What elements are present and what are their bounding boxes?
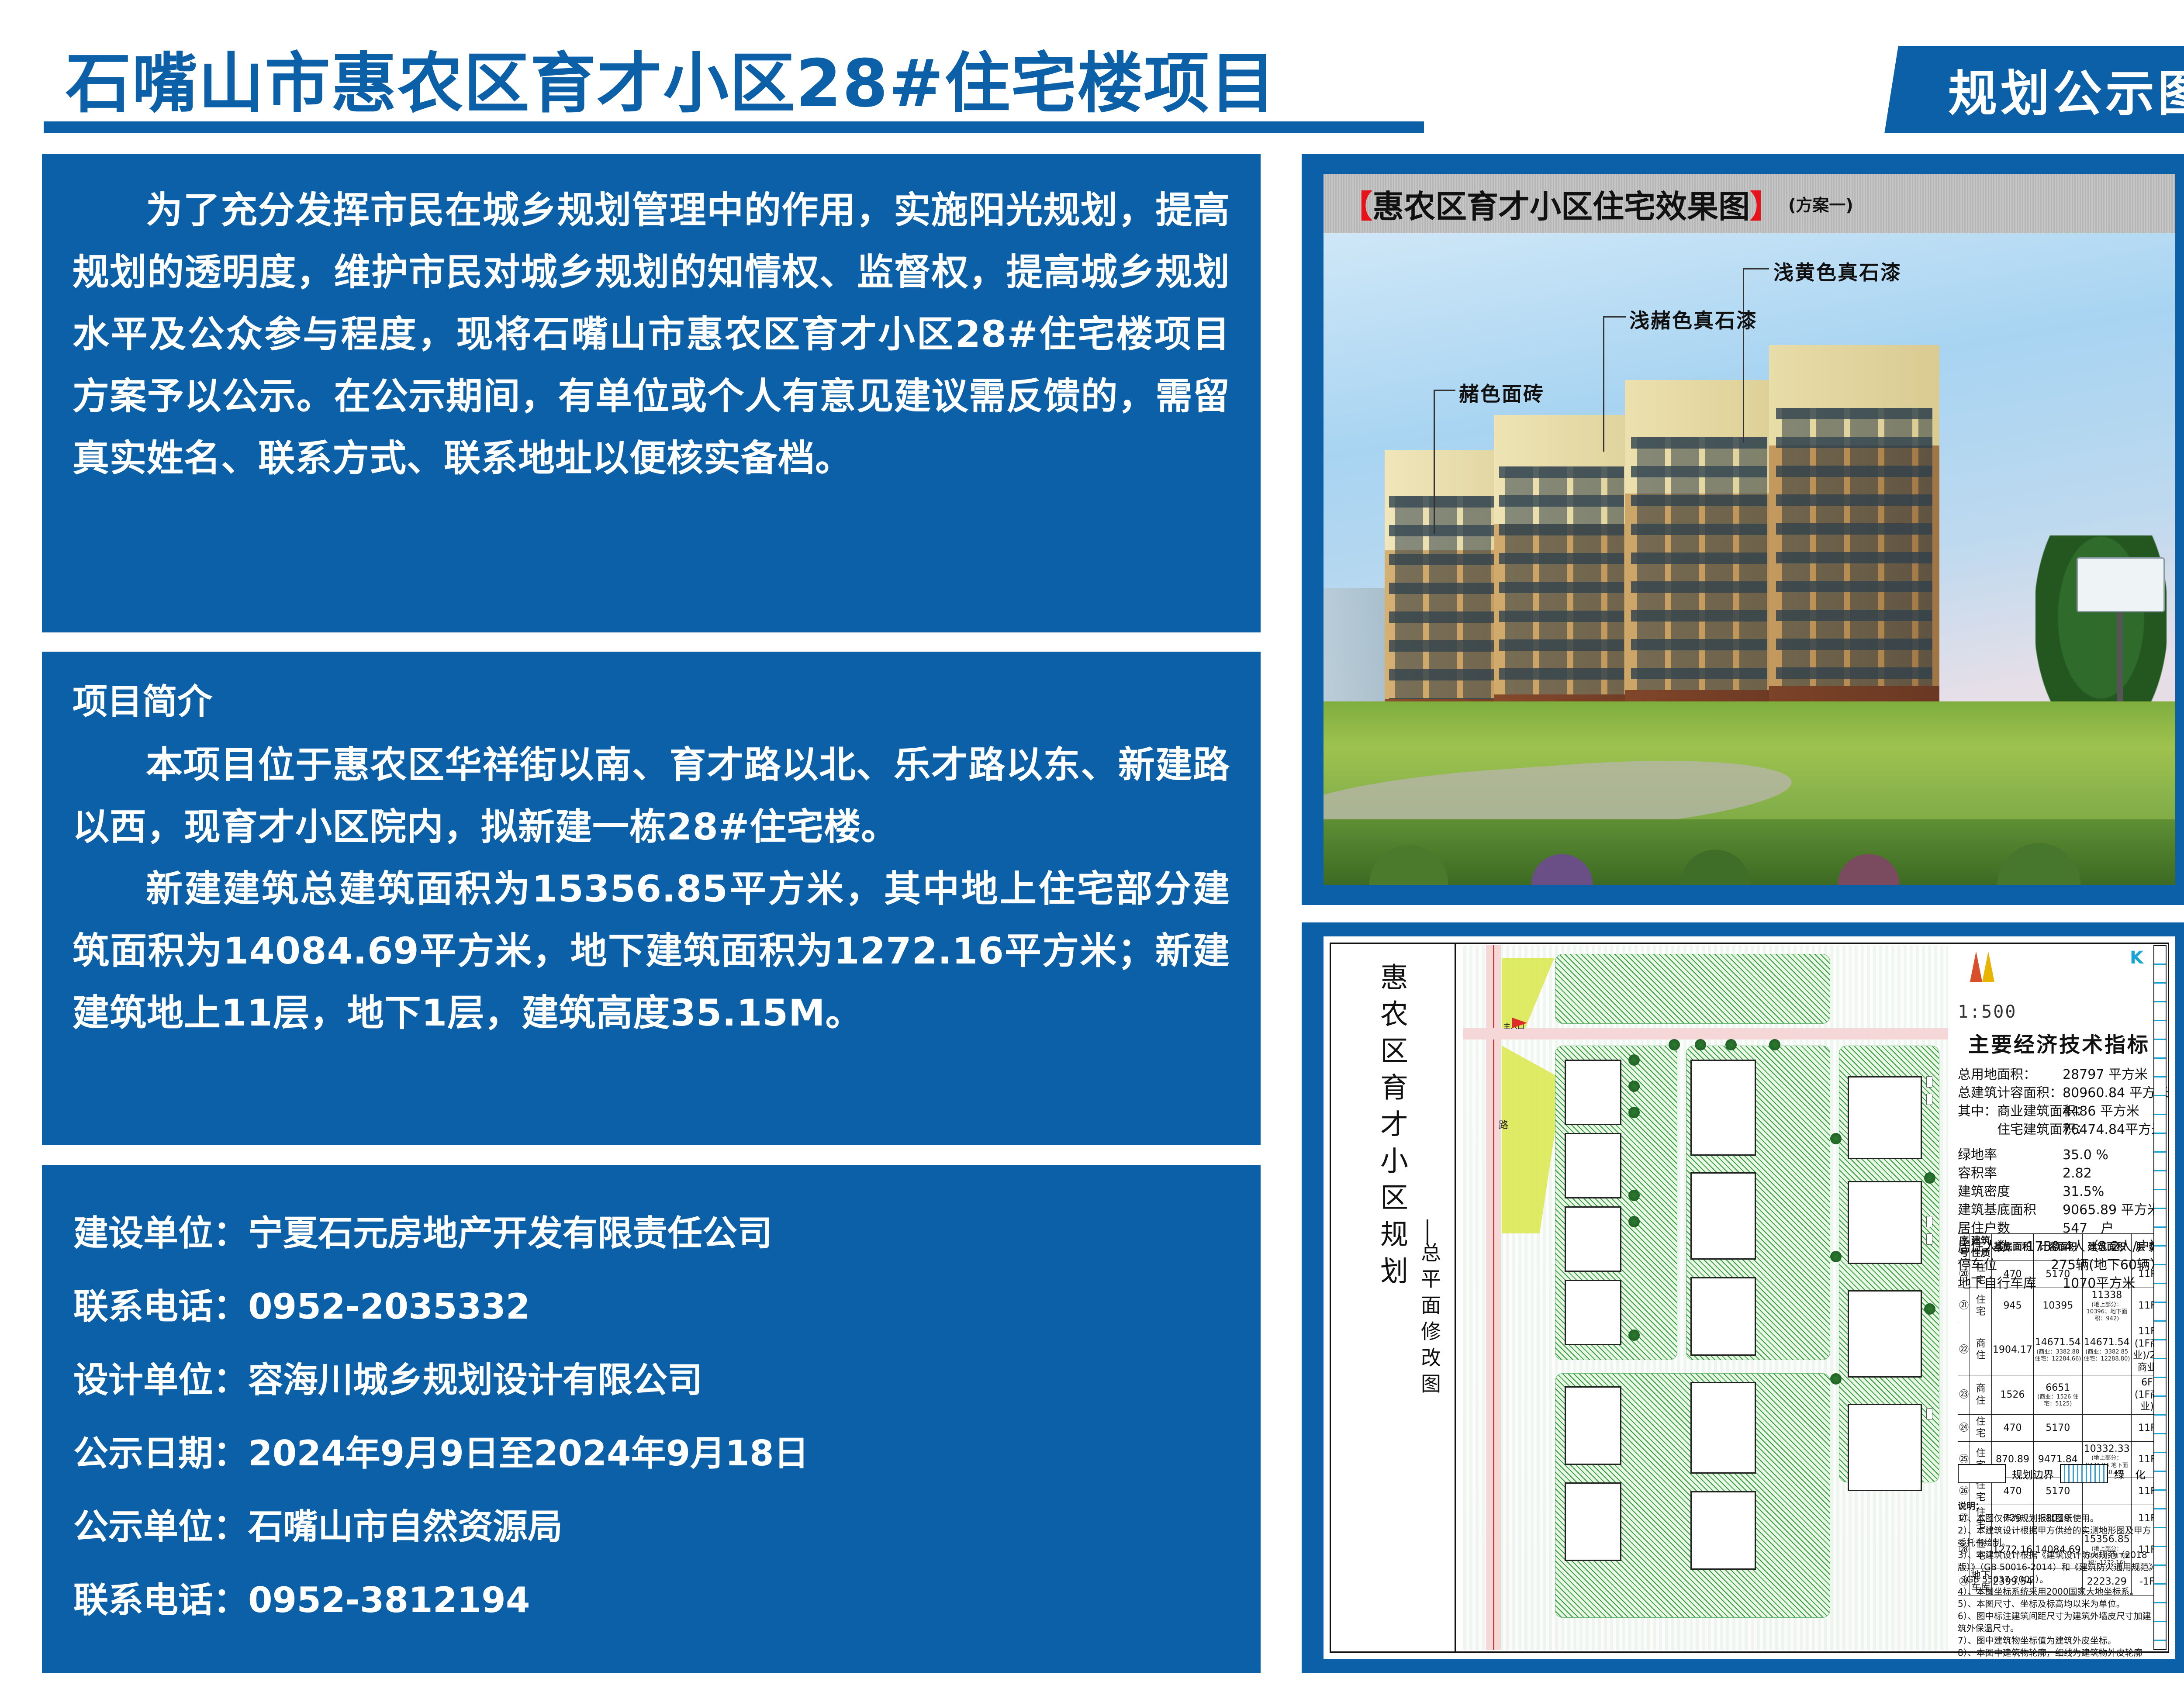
kpi-key: 住宅建筑面积： [1958, 1121, 2063, 1139]
parking-stall [1926, 1076, 1932, 1088]
tree-symbol [1769, 1039, 1780, 1050]
note-item: 4）、本图坐标系统采用2000国家大地坐标系。 [1958, 1585, 2159, 1598]
drawing-title-block [2153, 945, 2167, 1650]
leader-tick [1434, 390, 1455, 391]
tree-symbol [1695, 1039, 1706, 1050]
title-underline [44, 121, 1424, 133]
cell-no: ⑳ [1958, 1261, 1970, 1288]
map-legend: 规划边界 绿 化 [1958, 1464, 2163, 1483]
kpi-row: 其中：商业建筑面积：4486 平方米 [1958, 1102, 2163, 1121]
window-grid [1631, 437, 1768, 717]
kpi-key: 绿地率 [1958, 1146, 2063, 1164]
building-footprint [1565, 1386, 1621, 1465]
green-area [1555, 954, 1830, 1024]
contact-row-date: 公示日期：2024年9月9日至2024年9月18日 [73, 1417, 1230, 1490]
cell-far: 5170 [2034, 1261, 2083, 1288]
parking-stall [1926, 1408, 1932, 1419]
table-row: ㉒商 住1904.1714671.54(商业：3382.88 住宅：12284.… [1958, 1324, 2163, 1375]
north-arrow-right [1982, 951, 1994, 982]
background-building [1324, 588, 1389, 719]
contact-row-phone-2: 联系电话：0952-3812194 [73, 1564, 1230, 1637]
notice-text: 为了充分发挥市民在城乡规划管理中的作用，实施阳光规划，提高规划的透明度，维护市民… [73, 179, 1230, 489]
tree-symbol [1628, 1107, 1640, 1118]
cell-gfa [2082, 1414, 2131, 1441]
header-tag-label: 规划公示图 [1913, 55, 2184, 124]
note-item: 7）、图中建筑物坐标值为建筑外皮坐标。 [1958, 1634, 2159, 1647]
annotation-label: 赭色面砖 [1459, 382, 1545, 406]
kpi-value: 9065.89 平方米 [2063, 1201, 2163, 1219]
window-grid [1389, 496, 1493, 721]
building-footprint [1690, 1382, 1756, 1474]
cell-far-detail: (商业：1526 住宅：5125) [2035, 1394, 2081, 1408]
cell-gfa: 14671.54(商业：3382.85 住宅：12288.80) [2082, 1324, 2131, 1375]
shrub-row [1324, 819, 2175, 885]
building-footprint [1848, 1290, 1922, 1378]
building-footprint [1690, 1491, 1756, 1570]
cell-no: ㉔ [1958, 1414, 1970, 1441]
sunlight-zone [1502, 958, 1554, 1028]
drawing-divider [1455, 943, 1456, 1653]
kpi-key: 总建筑计容面积： [1958, 1084, 2063, 1102]
planning-publicity-poster: 石嘴山市惠农区育才小区28#住宅楼项目 规划公示图 为了充分发挥市民在城乡规划管… [0, 0, 2184, 1706]
col-base: 基底面积 [1992, 1234, 2034, 1261]
tree-symbol [1628, 1054, 1640, 1066]
cell-gfa: 11338(地上部分：10396；地下面积：942) [2082, 1288, 2131, 1324]
map-label-road: 路 [1496, 1120, 1510, 1129]
road-north [1463, 1028, 1948, 1039]
kpi-row: 绿地率35.0 % [1958, 1146, 2163, 1164]
table-row: ㉓商 住15266651(商业：1526 住宅：5125)6F (1F商业) [1958, 1375, 2163, 1415]
site-plan-panel: 惠农区育才小区规划 总平面修改图 [1302, 922, 2184, 1673]
building-footprint [1565, 1482, 1621, 1561]
building-footprint [1690, 1172, 1756, 1260]
contact-row-designer: 设计单位：容海川城乡规划设计有限公司 [73, 1343, 1230, 1417]
building-footprint [1848, 1404, 1922, 1491]
building-footprint [1565, 1206, 1621, 1272]
legend-swatch-boundary [1958, 1464, 2006, 1483]
page-title: 石嘴山市惠农区育才小区28#住宅楼项目 [66, 31, 1276, 125]
drawing-title-rule [1427, 1219, 1428, 1245]
cell-far: 5170 [2034, 1414, 2083, 1441]
annotation-label: 浅赭色真石漆 [1629, 309, 1758, 332]
bracket-open-icon: 【 [1341, 188, 1372, 225]
building-footprint [1565, 1133, 1621, 1198]
contact-row-phone-1: 联系电话：0952-2035332 [73, 1270, 1230, 1343]
cell-no: ㉒ [1958, 1324, 1970, 1375]
cell-far-detail: (商业：3382.88 住宅：12284.66) [2035, 1349, 2081, 1363]
table-row: ㉑住 宅9451039511338(地上部分：10396；地下面积：942)11… [1958, 1288, 2163, 1324]
kpi-key: 建筑基底面积 [1958, 1201, 2063, 1219]
building-block-far-left [1385, 450, 1498, 738]
kpi-key: 其中：商业建筑面积： [1958, 1102, 2063, 1121]
tree-symbol [1628, 1216, 1640, 1227]
tree-symbol [1830, 1251, 1842, 1262]
building-block-main [1769, 345, 1939, 738]
cell-gfa-detail: (地上部分：10396；地下面积：942) [2084, 1302, 2130, 1323]
building-block-left [1494, 415, 1629, 738]
tree-symbol [1924, 1172, 1935, 1184]
site-map: 主入口 路 [1463, 945, 1948, 1650]
rendering-caption: 【惠农区育才小区住宅效果图】 [1341, 181, 1781, 227]
kpi-row: 住宅建筑面积：76474.84平方米 [1958, 1121, 2163, 1139]
kpi-row: 建筑密度31.5% [1958, 1183, 2163, 1201]
leader-line [1603, 316, 1604, 452]
building-footprint [1565, 1060, 1621, 1125]
cell-use: 商 住 [1970, 1375, 1992, 1415]
cell-far: 6651(商业：1526 住宅：5125) [2034, 1375, 2083, 1415]
contact-panel: 建设单位：宁夏石元房地产开发有限责任公司 联系电话：0952-2035332 设… [42, 1165, 1261, 1673]
site-plan-drawing: 惠农区育才小区规划 总平面修改图 [1324, 936, 2175, 1659]
rendering-caption-sub: (方案一) [1788, 192, 1853, 216]
kpi-key: 总用地面积： [1958, 1066, 2063, 1084]
annotation-light-ochre-stone-paint: 浅赭色真石漆 [1629, 305, 1758, 334]
brief-paragraph-1: 本项目位于惠农区华祥街以南、育才路以北、乐才路以东、新建路以西，现育才小区院内，… [73, 734, 1230, 858]
brief-heading: 项目简介 [73, 673, 1230, 724]
tree-symbol [1669, 1039, 1680, 1050]
tree-symbol [1830, 1373, 1842, 1385]
window-grid [1776, 408, 1933, 715]
road-centerline [1493, 945, 1494, 1650]
cell-use: 住 宅 [1970, 1288, 1992, 1324]
legend-label-green: 绿 化 [2114, 1466, 2146, 1482]
cell-gfa-detail: (商业：3382.85 住宅：12288.80) [2084, 1349, 2130, 1363]
kpi-row: 总建筑计容面积：80960.84 平方米 [1958, 1084, 2163, 1102]
tree-symbol [1628, 1190, 1640, 1201]
col-use: 建筑性质 [1970, 1234, 1992, 1261]
note-item: 2）、本建筑设计根据甲方供给的实测地形图及甲方委托书绘制。 [1958, 1524, 2159, 1549]
table-header-row: 序号 建筑性质 基底面积 计容面积 建筑面积 层 数 [1958, 1234, 2163, 1261]
brief-paragraph-2: 新建建筑总建筑面积为15356.85平方米，其中地上住宅部分建筑面积为14084… [73, 858, 1230, 1044]
annotation-label: 浅黄色真石漆 [1773, 261, 1902, 284]
parking-stall [1926, 1233, 1932, 1245]
cell-gfa [2082, 1375, 2131, 1415]
drawing-subtitle: 总平面修改图 [1415, 1242, 1444, 1522]
kpi-value: 4486 平方米 [2063, 1102, 2163, 1121]
cell-far: 10395 [2034, 1288, 2083, 1324]
cell-gfa [2082, 1261, 2131, 1288]
tree-symbol [1628, 1081, 1640, 1092]
kpi-row: 建筑基底面积9065.89 平方米 [1958, 1201, 2163, 1219]
table-row: ㉔住 宅470517011F [1958, 1414, 2163, 1441]
table-row: ⑳住 宅470517011F [1958, 1261, 2163, 1288]
tree-symbol [1924, 1303, 1935, 1315]
sunlight-zone [1502, 1046, 1563, 1233]
drawing-title: 惠农区育才小区规划 [1372, 963, 1412, 1544]
cell-no: ㉓ [1958, 1375, 1970, 1415]
rendering-image: 【惠农区育才小区住宅效果图】 (方案一) [1324, 174, 2175, 885]
kpi-row: 总用地面积：28797 平方米 [1958, 1066, 2163, 1084]
entrance-arrow-icon [1512, 1018, 1527, 1028]
parking-stall [1926, 1094, 1932, 1105]
annotation-light-yellow-stone-paint: 浅黄色真石漆 [1773, 257, 1902, 286]
contact-row-publisher: 公示单位：石嘴山市自然资源局 [73, 1490, 1230, 1564]
note-item: 6）、图中标注建筑间距尺寸为建筑外墙皮尺寸加建筑外保温尺寸。 [1958, 1610, 2159, 1634]
building-footprint [1565, 1280, 1621, 1345]
cell-use: 住 宅 [1970, 1414, 1992, 1441]
building-footprint [1690, 1060, 1756, 1156]
cell-base: 1526 [1992, 1375, 2034, 1415]
rendering-caption-bar: 【惠农区育才小区住宅效果图】 (方案一) [1324, 174, 2175, 233]
kpi-value: 35.0 % [2063, 1146, 2163, 1164]
kpi-heading: 主要经济技术指标 [1968, 1027, 2163, 1058]
building-footprint [1848, 1181, 1922, 1264]
cell-base: 470 [1992, 1414, 2034, 1441]
building-block-middle [1625, 380, 1773, 738]
kpi-value: 31.5% [2063, 1183, 2163, 1201]
contact-row-developer: 建设单位：宁夏石元房地产开发有限责任公司 [73, 1197, 1230, 1270]
legend-label-boundary: 规划边界 [2012, 1466, 2054, 1482]
rendering-panel: 【惠农区育才小区住宅效果图】 (方案一) [1302, 154, 2184, 905]
rendering-caption-text: 惠农区育才小区住宅效果图 [1372, 188, 1750, 225]
bracket-close-icon: 】 [1750, 188, 1781, 225]
north-arrow-left [1970, 951, 1982, 982]
col-far: 计容面积 [2034, 1234, 2083, 1261]
cell-base: 1904.17 [1992, 1324, 2034, 1375]
project-brief-panel: 项目简介 本项目位于惠农区华祥街以南、育才路以北、乐才路以东、新建路以西，现育才… [42, 652, 1261, 1145]
building-footprint [1690, 1277, 1756, 1356]
notes-heading: 说明： [1958, 1500, 2159, 1512]
poster-header: 石嘴山市惠农区育才小区28#住宅楼项目 规划公示图 [0, 0, 2184, 144]
note-item: 5）、本图尺寸、坐标及标高均以米为单位。 [1958, 1598, 2159, 1610]
col-no: 序号 [1958, 1234, 1970, 1261]
parking-stall [1926, 1216, 1932, 1227]
window-grid [1499, 466, 1624, 718]
notice-panel: 为了充分发挥市民在城乡规划管理中的作用，实施阳光规划，提高规划的透明度，维护市民… [42, 154, 1261, 632]
kpi-value: 2.82 [2063, 1164, 2163, 1183]
annotation-ochre-face-brick: 赭色面砖 [1459, 378, 1545, 407]
note-item: 1）、本图仅作为规划报批图纸使用。 [1958, 1512, 2159, 1524]
tree-symbol [1830, 1133, 1842, 1144]
cell-use: 商 住 [1970, 1324, 1992, 1375]
building-footprint [1848, 1076, 1922, 1159]
leader-line [1434, 390, 1435, 534]
tree-symbol [1725, 1039, 1737, 1050]
kpi-key: 建筑密度 [1958, 1183, 2063, 1201]
cell-far: 14671.54(商业：3382.88 住宅：12284.66) [2034, 1324, 2083, 1375]
tree-symbol [1628, 1330, 1640, 1341]
legend-swatch-green [2060, 1464, 2108, 1483]
cell-base: 945 [1992, 1288, 2034, 1324]
note-item: 8）、本图中建筑物轮廓，细线为建筑物外皮轮廓线，粗线为包含建筑外保温轮廓线。 [1958, 1647, 2159, 1659]
leader-tick [1603, 316, 1626, 318]
cell-use: 住 宅 [1970, 1261, 1992, 1288]
drawing-scale: 1:500 [1958, 1002, 2017, 1022]
kpi-row: 容积率2.82 [1958, 1164, 2163, 1183]
note-item: 3）、本建筑设计根据《建筑设计防火规范（2018版）》（GB 50016-201… [1958, 1549, 2159, 1585]
drawing-notes: 说明： 1）、本图仅作为规划报批图纸使用。 2）、本建筑设计根据甲方供给的实测地… [1958, 1500, 2159, 1659]
kpi-value: 80960.84 平方米 [2063, 1084, 2169, 1102]
kpi-key: 容积率 [1958, 1164, 2063, 1183]
col-gfa: 建筑面积 [2082, 1234, 2131, 1261]
kpi-value: 28797 平方米 [2063, 1066, 2163, 1084]
cell-base: 470 [1992, 1261, 2034, 1288]
cell-no: ㉑ [1958, 1288, 1970, 1324]
kpi-value: 76474.84平方米 [2063, 1121, 2164, 1139]
